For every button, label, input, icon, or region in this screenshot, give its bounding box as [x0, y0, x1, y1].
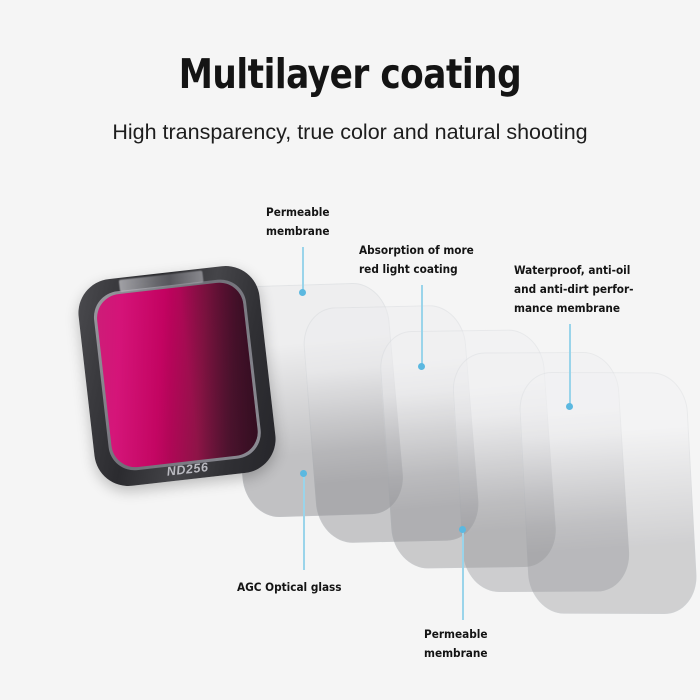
callout-label-line: membrane	[424, 644, 487, 663]
callout-label-line: Permeable	[266, 203, 329, 222]
callout-leader-line	[462, 528, 464, 620]
filter-glass	[95, 280, 261, 470]
callout-leader-line	[303, 472, 305, 570]
callout-leader-line	[421, 285, 423, 366]
callout-label-agc-optical-glass: AGC Optical glass	[237, 578, 342, 597]
callout-label-waterproof-membrane: Waterproof, anti-oiland anti-dirt perfor…	[514, 261, 634, 318]
nd-filter-product: ND256	[75, 262, 279, 489]
callout-label-permeable-membrane-bottom: Permeablemembrane	[424, 625, 487, 663]
callout-label-line: AGC Optical glass	[237, 578, 342, 597]
callout-label-permeable-membrane-top: Permeablemembrane	[266, 203, 329, 241]
callout-leader-line	[302, 247, 304, 292]
page-subtitle: High transparency, true color and natura…	[0, 120, 700, 145]
callout-label-line: Absorption of more	[359, 241, 474, 260]
callout-label-red-light-coating: Absorption of morered light coating	[359, 241, 474, 279]
callout-label-line: Waterproof, anti-oil	[514, 261, 634, 280]
page-title: Multilayer coating	[25, 50, 676, 98]
callout-label-line: membrane	[266, 222, 329, 241]
callout-label-line: red light coating	[359, 260, 474, 279]
callout-label-line: Permeable	[424, 625, 487, 644]
coating-layer	[518, 372, 699, 614]
callout-leader-line	[569, 324, 571, 406]
callout-label-line: and anti-dirt perfor-	[514, 280, 634, 299]
callout-label-line: mance membrane	[514, 299, 634, 318]
infographic-canvas: Multilayer coating High transparency, tr…	[0, 0, 700, 700]
